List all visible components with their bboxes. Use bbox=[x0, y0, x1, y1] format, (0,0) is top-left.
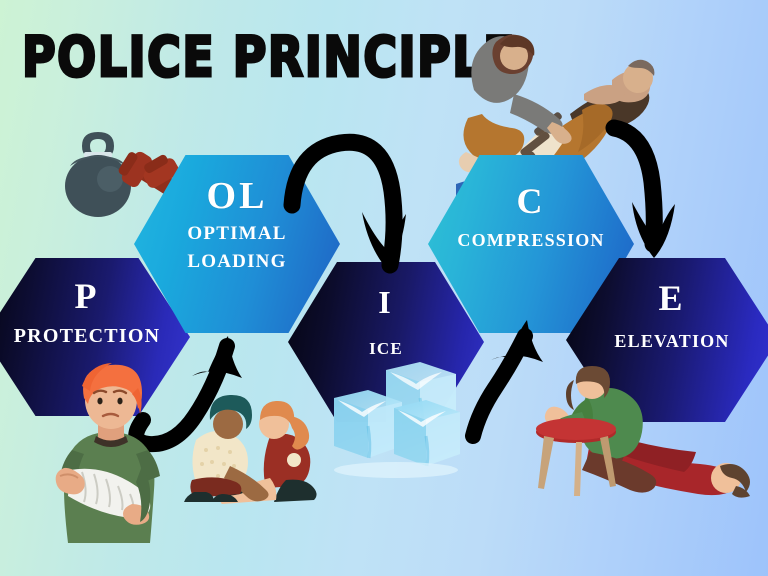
hexagon-letter-p: P bbox=[75, 278, 100, 314]
stool bbox=[536, 418, 616, 496]
hexagon-label-loading: LOADING bbox=[187, 252, 286, 271]
hexagon-label-optimal: OPTIMAL bbox=[187, 224, 286, 243]
person-with-bandaged-arm-illustration bbox=[46, 358, 176, 543]
hexagon-letter-e: E bbox=[658, 280, 685, 316]
infographic-canvas: POLICE PRINCIPLE bbox=[0, 0, 768, 576]
hexagon-label-compression: COMPRESSION bbox=[457, 231, 604, 249]
ice-cubes-illustration bbox=[330, 352, 462, 478]
page-title: POLICE PRINCIPLE bbox=[22, 25, 516, 90]
ice-cube-right bbox=[394, 400, 460, 466]
hexagon-letter-ol: OL bbox=[207, 177, 268, 215]
hexagon-letter-c: C bbox=[517, 183, 546, 219]
kettlebell-icon bbox=[65, 132, 131, 217]
therapist-figure bbox=[184, 395, 269, 502]
leg-elevation-on-stool-illustration bbox=[530, 368, 766, 502]
ice-cube-left bbox=[334, 390, 402, 458]
hexagon-label-protection: PROTECTION bbox=[14, 326, 160, 346]
hexagon-label-elevation: ELEVATION bbox=[614, 332, 729, 350]
hexagon-letter-i: I bbox=[378, 286, 393, 318]
therapist-treating-leg-illustration bbox=[174, 392, 326, 502]
